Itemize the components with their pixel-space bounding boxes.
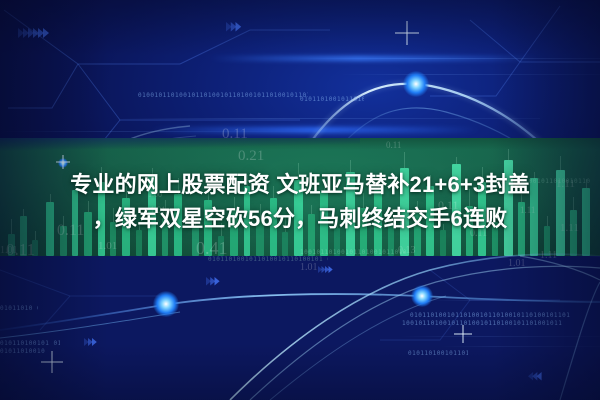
banner-image: 0.110.211.011.000.110.111.011.010.411.01… [0,0,600,400]
glow-dot [411,285,433,307]
headline: 专业的网上股票配资 文班亚马替补21+6+3封盖 ，绿军双星空砍56分，马刺终结… [0,168,600,236]
sparkle-star-icon [41,351,63,373]
headline-line-2: ，绿军双星空砍56分，马刺终结交手6连败 [18,202,582,236]
sparkle-star-icon [395,21,419,45]
glow-dot [403,71,429,97]
sparkle-star-icon [454,325,472,343]
sparkle-star-icon [56,155,70,169]
headline-line-1: 专业的网上股票配资 文班亚马替补21+6+3封盖 [70,172,530,197]
glow-dot [153,291,179,317]
